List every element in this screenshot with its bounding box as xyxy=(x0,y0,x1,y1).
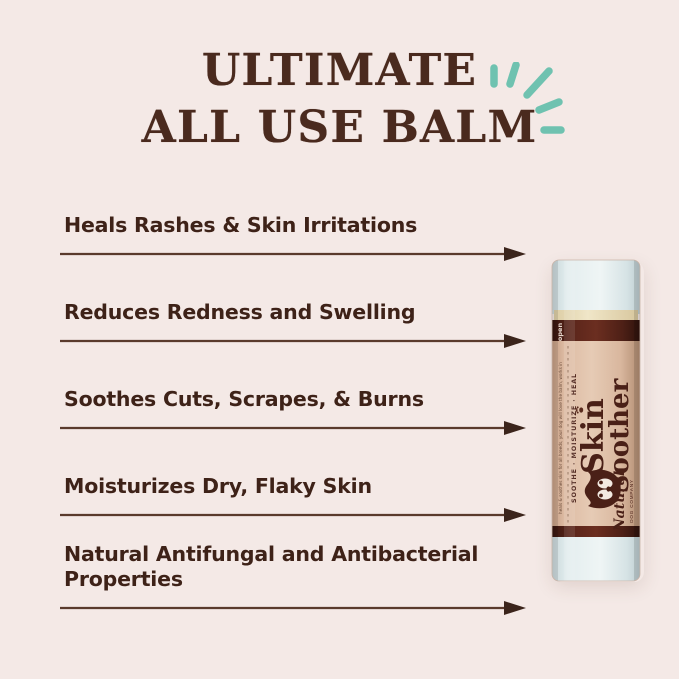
product-image[interactable]: open heals & soothes skin for all breeds… xyxy=(548,258,644,583)
benefit-item-1: Heals Rashes & Skin Irritations xyxy=(60,213,530,261)
tube-fine-print: heals & soothes skin for all breeds, you… xyxy=(558,362,563,514)
arrow-right-icon-2 xyxy=(60,334,526,348)
title-line-2: ALL USE BALM xyxy=(0,99,679,156)
benefit-label-5-cont: Properties xyxy=(60,567,530,592)
benefits-list: Heals Rashes & Skin Irritations Reduces … xyxy=(60,213,530,615)
arrow-right-icon-4 xyxy=(60,508,526,522)
infographic-canvas: ULTIMATE ALL USE BALM Heals Rashes & Ski… xyxy=(0,0,679,679)
page-title: ULTIMATE ALL USE BALM xyxy=(0,42,679,156)
benefit-item-2: Reduces Redness and Swelling xyxy=(60,300,530,348)
benefit-item-5: Natural Antifungal and Antibacterial Pro… xyxy=(60,542,530,615)
arrow-right-icon-1 xyxy=(60,247,526,261)
skin-soother-tube-illustration: open heals & soothes skin for all breeds… xyxy=(548,258,644,583)
benefit-item-3: Soothes Cuts, Scrapes, & Burns xyxy=(60,387,530,435)
benefit-label-4: Moisturizes Dry, Flaky Skin xyxy=(60,474,530,499)
benefit-label-3: Soothes Cuts, Scrapes, & Burns xyxy=(60,387,530,412)
arrow-right-icon-5 xyxy=(60,601,526,615)
brand-sub-text: DOG COMPANY xyxy=(629,479,634,522)
benefit-item-4: Moisturizes Dry, Flaky Skin xyxy=(60,474,530,522)
benefit-label-1: Heals Rashes & Skin Irritations xyxy=(60,213,530,238)
benefit-label-5: Natural Antifungal and Antibacterial xyxy=(60,542,530,567)
arrow-right-icon-3 xyxy=(60,421,526,435)
brand-script-text: Natural xyxy=(612,471,628,532)
benefit-label-2: Reduces Redness and Swelling xyxy=(60,300,530,325)
title-line-1: ULTIMATE xyxy=(0,42,679,99)
